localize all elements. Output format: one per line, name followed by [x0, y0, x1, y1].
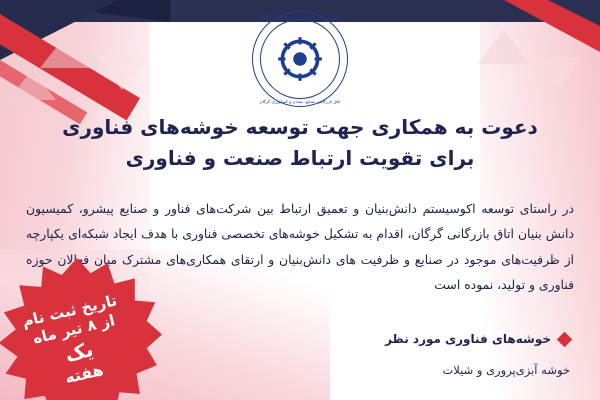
headline-line-1: دعوت به همکاری جهت توسعه خوشه‌های فناوری [0, 112, 600, 143]
section-heading-label: خوشه‌های فناوری مورد نظر [385, 332, 551, 346]
decorative-triangle-2 [96, 56, 148, 90]
chamber-gear-icon [274, 33, 326, 85]
poster-headline: دعوت به همکاری جهت توسعه خوشه‌های فناوری… [0, 112, 600, 174]
diamond-bullet-icon [557, 331, 573, 347]
decorative-triangle-1 [40, 30, 100, 68]
badge-text: تاریخ ثبت نام از ۸ تیر ماه یک هفته [0, 241, 179, 400]
section-item-list: خوشه آبزی‌پروری و شیلات [180, 360, 570, 381]
section-heading: خوشه‌های فناوری مورد نظر [385, 332, 570, 346]
logo-top-caption: اتاق بازرگانی، صنایع، معادن و کشاورزی گر… [252, 14, 348, 19]
decorative-triangle-3 [8, 70, 56, 100]
poster-canvas: اتاق بازرگانی، صنایع، معادن و کشاورزی گر… [0, 0, 600, 400]
list-item: خوشه آبزی‌پروری و شیلات [180, 360, 570, 381]
logo-ring: اتاق بازرگانی، صنایع، معادن و کشاورزی گر… [252, 11, 348, 107]
logo-bottom-caption: اتاق بازرگانی، صنایع، معادن و کشاورزی گر… [252, 99, 348, 104]
headline-line-2: برای تقویت ارتباط صنعت و فناوری [0, 143, 600, 174]
registration-badge: تاریخ ثبت نام از ۸ تیر ماه یک هفته [0, 258, 162, 400]
decorative-triangle-5 [538, 58, 582, 88]
organization-logo: اتاق بازرگانی، صنایع، معادن و کشاورزی گر… [245, 8, 355, 110]
decorative-triangle-4 [478, 30, 530, 64]
top-right-navy-wedge [548, 0, 600, 26]
